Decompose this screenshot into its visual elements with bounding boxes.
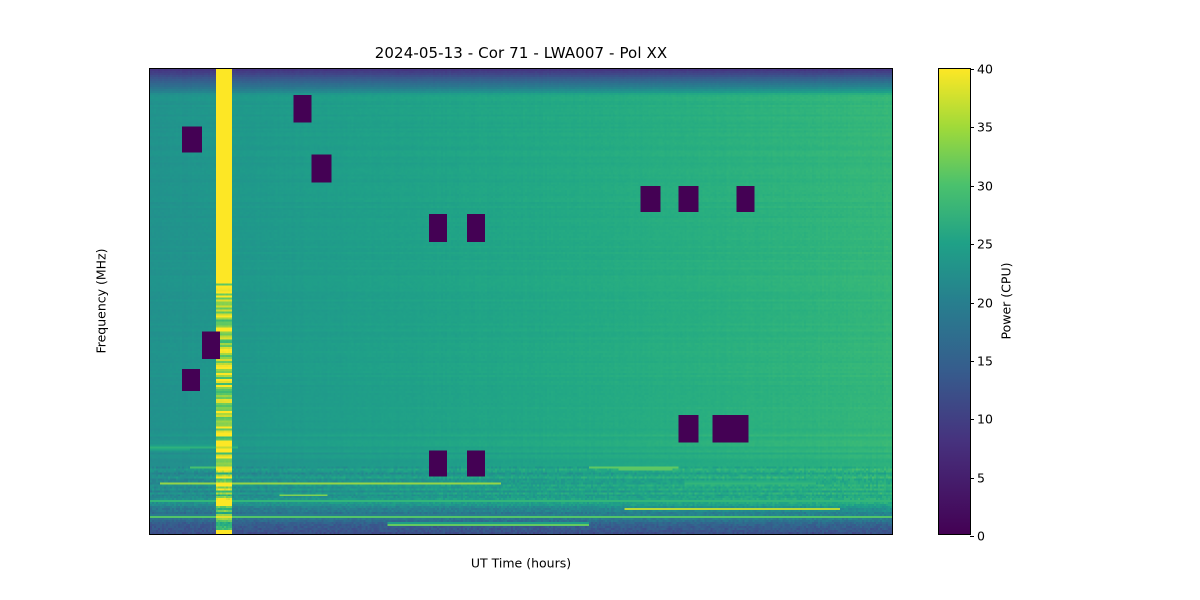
colorbar-tick bbox=[970, 303, 974, 304]
x-axis-minor-tick bbox=[699, 534, 700, 535]
colorbar-tick bbox=[970, 186, 974, 187]
x-axis-minor-tick bbox=[627, 534, 628, 535]
y-axis-minor-tick bbox=[149, 526, 150, 527]
y-axis-tick-label: 40 bbox=[149, 359, 150, 374]
colorbar-tick bbox=[970, 478, 974, 479]
x-axis-minor-tick bbox=[579, 534, 580, 535]
colorbar-tick bbox=[970, 69, 974, 70]
colorbar-tick bbox=[970, 536, 974, 537]
x-axis-tick bbox=[675, 534, 676, 535]
x-axis-minor-tick bbox=[411, 534, 412, 535]
x-axis-minor-tick bbox=[243, 534, 244, 535]
x-axis-minor-tick bbox=[866, 534, 867, 535]
y-axis-minor-tick bbox=[149, 271, 150, 272]
y-axis-tick-label: 80 bbox=[149, 103, 150, 118]
x-axis-minor-tick bbox=[771, 534, 772, 535]
x-axis-minor-tick bbox=[291, 534, 292, 535]
colorbar-tick-label: 35 bbox=[977, 120, 993, 135]
y-axis-tick-label: 20 bbox=[149, 487, 150, 502]
colorbar-tick bbox=[970, 361, 974, 362]
colorbar-tick-label: 20 bbox=[977, 295, 993, 310]
spectrogram-heatmap bbox=[150, 69, 892, 534]
y-axis-minor-tick bbox=[149, 79, 150, 80]
y-axis-minor-tick bbox=[149, 462, 150, 463]
x-axis-label: UT Time (hours) bbox=[471, 556, 571, 571]
x-axis-minor-tick bbox=[507, 534, 508, 535]
y-axis-tick-label: 50 bbox=[149, 295, 150, 310]
x-axis-minor-tick bbox=[531, 534, 532, 535]
colorbar-tick-label: 10 bbox=[977, 412, 993, 427]
x-axis-minor-tick bbox=[651, 534, 652, 535]
x-axis-minor-tick bbox=[172, 534, 173, 535]
colorbar-tick-label: 5 bbox=[977, 470, 985, 485]
matplotlib-figure: 2024-05-13 - Cor 71 - LWA007 - Pol XX 20… bbox=[0, 0, 1200, 600]
y-axis-minor-tick bbox=[149, 334, 150, 335]
colorbar-tick-label: 0 bbox=[977, 529, 985, 544]
y-axis-label: Frequency (MHz) bbox=[94, 248, 109, 353]
x-axis-minor-tick bbox=[747, 534, 748, 535]
colorbar-tick-label: 40 bbox=[977, 62, 993, 77]
colorbar-tick-label: 30 bbox=[977, 178, 993, 193]
y-axis-minor-tick bbox=[149, 143, 150, 144]
x-axis-minor-tick bbox=[890, 534, 891, 535]
colorbar-tick bbox=[970, 127, 974, 128]
colorbar-tick-label: 25 bbox=[977, 237, 993, 252]
y-axis-tick-label: 30 bbox=[149, 423, 150, 438]
x-axis-minor-tick bbox=[219, 534, 220, 535]
heatmap-canvas bbox=[150, 69, 892, 534]
y-axis-tick-label: 60 bbox=[149, 231, 150, 246]
x-axis-tick bbox=[315, 534, 316, 535]
x-axis-tick bbox=[555, 534, 556, 535]
spectrogram-axes: 20304050607080789101112 bbox=[149, 68, 893, 535]
x-axis-minor-tick bbox=[819, 534, 820, 535]
page-title: 2024-05-13 - Cor 71 - LWA007 - Pol XX bbox=[149, 44, 893, 62]
x-axis-minor-tick bbox=[363, 534, 364, 535]
x-axis-minor-tick bbox=[483, 534, 484, 535]
x-axis-minor-tick bbox=[842, 534, 843, 535]
x-axis-tick bbox=[435, 534, 436, 535]
colorbar-tick bbox=[970, 419, 974, 420]
x-axis-minor-tick bbox=[267, 534, 268, 535]
x-axis-minor-tick bbox=[459, 534, 460, 535]
y-axis-tick-label: 70 bbox=[149, 167, 150, 182]
x-axis-minor-tick bbox=[387, 534, 388, 535]
x-axis-tick bbox=[196, 534, 197, 535]
colorbar-label: Power (CPU) bbox=[999, 263, 1014, 340]
x-axis-tick bbox=[795, 534, 796, 535]
x-axis-minor-tick bbox=[723, 534, 724, 535]
colorbar-tick bbox=[970, 244, 974, 245]
x-axis-minor-tick bbox=[339, 534, 340, 535]
x-axis-minor-tick bbox=[603, 534, 604, 535]
y-axis-minor-tick bbox=[149, 398, 150, 399]
colorbar: 0510152025303540 bbox=[938, 68, 971, 535]
colorbar-tick-label: 15 bbox=[977, 353, 993, 368]
y-axis-minor-tick bbox=[149, 207, 150, 208]
